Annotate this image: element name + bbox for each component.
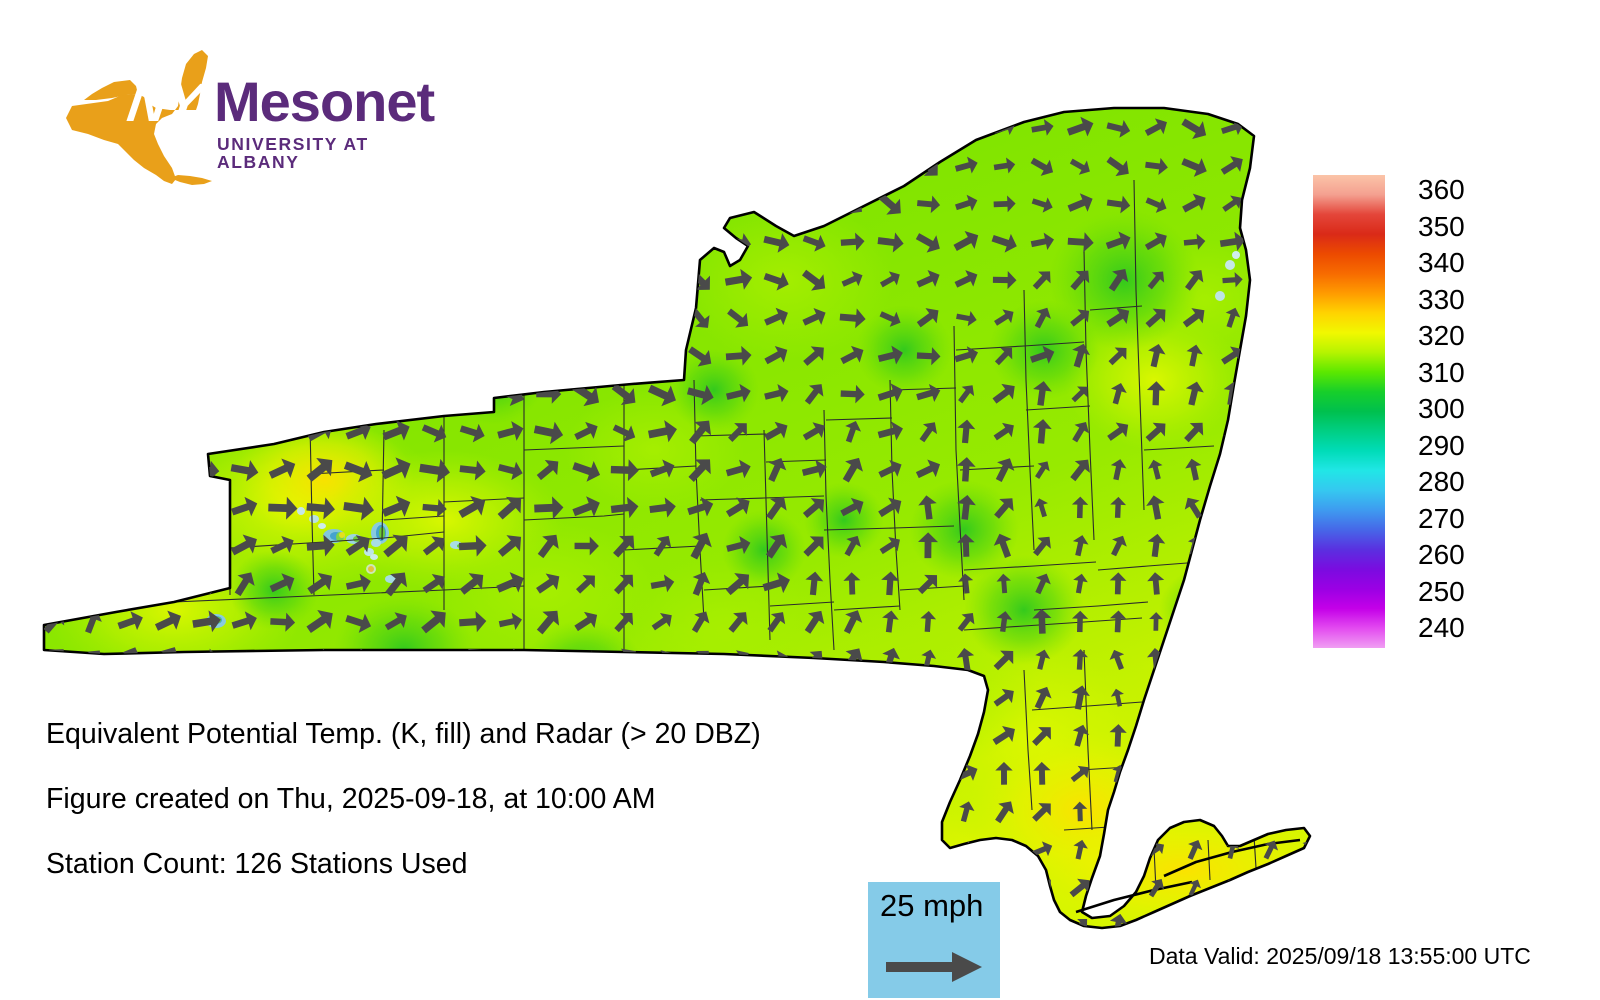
wind-arrow (229, 381, 260, 407)
wind-arrow (113, 302, 149, 333)
wind-arrow (35, 261, 75, 300)
wind-arrow (648, 267, 678, 295)
wind-arrow (878, 684, 903, 711)
wind-arrow (381, 305, 413, 332)
wind-arrow (911, 112, 945, 144)
wind-arrow (189, 378, 223, 410)
wind-arrow (74, 185, 112, 225)
wind-arrow (37, 227, 72, 259)
colorbar-tick-340: 340 (1418, 249, 1465, 277)
wind-arrow (266, 340, 300, 372)
wind-arrow (459, 914, 487, 930)
wind-arrow (1296, 193, 1314, 215)
wind-arrow (346, 915, 372, 930)
wind-arrow (418, 682, 452, 714)
wind-arrow (453, 224, 492, 261)
wind-arrow (1255, 152, 1286, 181)
wind-arrow (152, 490, 184, 524)
wind-arrow (189, 111, 224, 145)
wind-arrow (1257, 193, 1284, 216)
wind-arrow (340, 339, 378, 374)
wind-arrow (269, 687, 296, 709)
wind-arrow (1295, 456, 1314, 482)
wind-arrow (494, 111, 526, 147)
wind-arrow (648, 913, 677, 930)
wind-arrow (229, 264, 260, 298)
wind-arrow (117, 345, 145, 368)
wind-arrow (1296, 306, 1314, 330)
wind-arrow (1259, 119, 1282, 137)
wind-arrow (1183, 722, 1205, 748)
wind-arrow (268, 913, 298, 930)
wind-arrow (1256, 303, 1286, 332)
data-valid-timestamp: Data Valid: 2025/09/18 13:55:00 UTC (1149, 943, 1531, 970)
wind-arrow (1186, 612, 1201, 632)
wind-arrow (152, 681, 186, 714)
wind-arrow (270, 152, 294, 182)
wind-arrow (73, 147, 113, 185)
wind-arrow (497, 345, 525, 367)
wind-arrow (1260, 649, 1281, 671)
wind-arrow (1223, 534, 1241, 557)
wind-arrow (1260, 876, 1280, 899)
colorbar-tick-270: 270 (1418, 505, 1465, 533)
wind-arrow (1300, 611, 1314, 631)
wind-arrow (497, 189, 524, 221)
wind-arrow (114, 493, 147, 523)
wind-arrow (1221, 609, 1243, 633)
wind-arrow (1219, 760, 1246, 786)
wind-arrow (534, 686, 563, 710)
wind-arrow (304, 342, 337, 372)
wind-arrow (572, 686, 601, 711)
wind-arrow (79, 683, 106, 712)
wind-arrow (76, 342, 109, 371)
wind-arrow (112, 413, 150, 450)
wind-scale-label: 25 mph (880, 888, 983, 924)
wind-arrow (342, 682, 375, 714)
wind-arrow (339, 224, 379, 261)
wind-arrow (75, 301, 111, 336)
wind-arrow (191, 304, 223, 331)
wind-arrow (384, 688, 409, 708)
wind-arrow (761, 151, 791, 183)
wind-arrow (111, 148, 151, 185)
wind-arrow (113, 454, 148, 485)
wind-arrow (495, 226, 525, 260)
wind-arrow (1263, 612, 1277, 631)
wind-arrow (801, 152, 827, 181)
wind-arrow (955, 685, 976, 710)
wind-arrow (684, 681, 717, 714)
wind-arrow (227, 225, 262, 260)
wind-scale-legend: 25 mph (868, 882, 1000, 998)
wind-arrow (496, 686, 525, 709)
wind-arrow (37, 527, 73, 563)
wind-arrow (1296, 913, 1314, 930)
wind-arrow (340, 299, 376, 338)
wind-arrow (610, 344, 640, 368)
wind-arrow (78, 381, 108, 406)
wind-arrow (685, 151, 717, 182)
wind-arrow (191, 531, 222, 561)
wind-arrow (189, 226, 224, 258)
figure-canvas: NYS Mesonet UNIVERSITY AT ALBANY (0, 0, 1600, 1000)
wind-arrow (648, 113, 676, 144)
wind-arrow (802, 114, 827, 143)
wind-arrow (1148, 801, 1164, 822)
wind-arrow (343, 188, 374, 222)
wind-arrow (1261, 534, 1279, 557)
wind-arrow (230, 686, 260, 711)
wind-arrow (1256, 455, 1284, 484)
wind-arrow (302, 301, 339, 336)
wind-arrow (155, 914, 181, 930)
wind-arrow (304, 379, 336, 410)
wind-arrow (571, 150, 602, 184)
wind-arrow (573, 306, 601, 329)
wind-arrow (155, 383, 183, 406)
caption-station-count: Station Count: 126 Stations Used (46, 848, 946, 881)
wind-arrow (646, 226, 679, 259)
wind-arrow (1029, 911, 1056, 930)
wind-arrow (79, 113, 105, 145)
wind-arrow (1297, 381, 1314, 405)
wind-arrow (763, 192, 791, 217)
wind-arrow (456, 111, 489, 147)
wind-arrow (269, 113, 294, 145)
wind-arrow (1295, 266, 1314, 293)
wind-arrow (722, 681, 756, 715)
wind-arrow (530, 224, 566, 262)
wind-arrow (152, 530, 185, 561)
wind-arrow (1297, 533, 1314, 558)
wind-arrow (1186, 649, 1202, 670)
wind-arrow (308, 152, 332, 181)
wind-arrow (649, 345, 676, 367)
wind-arrow (268, 305, 298, 330)
wind-arrow (725, 151, 752, 182)
wind-arrow (154, 568, 183, 599)
wind-arrow (111, 223, 150, 262)
colorbar-tick-360: 360 (1418, 176, 1465, 204)
wind-arrow (382, 648, 412, 673)
wind-arrow (112, 262, 149, 300)
wind-arrow (570, 226, 603, 260)
wind-arrow (82, 917, 104, 930)
wind-arrow (75, 489, 111, 525)
wind-arrow (342, 264, 374, 298)
wind-arrow (188, 489, 226, 526)
wind-arrow (1299, 686, 1314, 708)
wind-arrow (78, 420, 108, 444)
wind-arrow (456, 264, 488, 298)
wind-arrow (612, 308, 638, 329)
wind-arrow (381, 381, 412, 407)
wind-arrow (416, 110, 454, 148)
wind-arrow (39, 380, 70, 407)
wind-arrow (120, 917, 140, 930)
wind-arrow (1182, 684, 1206, 711)
wind-arrow (1221, 913, 1243, 930)
wind-arrow (762, 114, 791, 144)
wind-arrow (1147, 762, 1165, 785)
wind-arrow (1223, 800, 1241, 822)
wind-arrow (610, 189, 638, 221)
wind-arrow (877, 155, 903, 178)
wind-arrow (801, 192, 828, 216)
wind-arrow (268, 226, 297, 260)
wind-arrow (610, 113, 638, 145)
wind-arrow (383, 113, 408, 144)
wind-arrow (1263, 688, 1278, 707)
wind-arrow (1259, 232, 1283, 252)
colorbar-tick-300: 300 (1418, 395, 1465, 423)
wind-arrow (379, 340, 414, 373)
wind-arrow (608, 264, 641, 298)
wind-arrow (151, 264, 186, 297)
wind-arrow (535, 189, 562, 220)
wind-arrow (1259, 419, 1282, 444)
wind-arrow (226, 188, 263, 222)
wind-arrow (306, 188, 335, 222)
wind-arrow (1294, 115, 1314, 141)
wind-arrow (1299, 573, 1314, 594)
wind-arrow (417, 149, 453, 185)
wind-arrow (73, 224, 112, 261)
wind-arrow (1261, 915, 1279, 930)
right-arrow-icon (886, 950, 984, 984)
wind-arrow (40, 492, 68, 523)
wind-arrow (1259, 800, 1281, 823)
wind-arrow (150, 111, 186, 147)
wind-arrow (799, 683, 831, 712)
wind-arrow (457, 380, 488, 410)
wind-arrow (915, 684, 941, 712)
wind-arrow (1297, 419, 1314, 444)
colorbar-tick-330: 330 (1418, 286, 1465, 314)
wind-arrow (1147, 914, 1164, 930)
wind-arrow (764, 913, 789, 930)
wind-arrow (761, 681, 791, 714)
wind-arrow (532, 149, 565, 185)
caption-created: Figure created on Thu, 2025-09-18, at 10… (46, 783, 946, 816)
wind-arrow (645, 188, 681, 222)
wind-arrow (571, 343, 602, 370)
wind-arrow (115, 188, 146, 223)
wind-arrow (38, 454, 72, 486)
wind-arrow (155, 189, 181, 220)
wind-arrow (1299, 496, 1314, 519)
wind-arrow (307, 914, 335, 930)
wind-arrow (573, 915, 599, 930)
wind-arrow (1262, 725, 1278, 745)
wind-arrow (1108, 837, 1127, 861)
wind-arrow (37, 150, 73, 183)
wind-arrow (190, 266, 223, 294)
wind-arrow (188, 185, 226, 225)
colorbar-tick-240: 240 (1418, 614, 1465, 642)
wind-arrow (35, 109, 75, 148)
wind-arrow (417, 341, 453, 372)
wind-arrow (114, 566, 146, 601)
wind-arrow (232, 914, 258, 930)
wind-arrow (1295, 154, 1314, 178)
wind-arrow (609, 684, 640, 712)
wind-arrow (307, 686, 335, 710)
wind-arrow (192, 686, 222, 710)
wind-arrow (1183, 915, 1206, 930)
wind-arrow (192, 419, 222, 444)
wind-arrow (1297, 648, 1314, 672)
wind-arrow (800, 911, 828, 930)
wind-arrow (76, 453, 109, 487)
wind-arrow (341, 378, 377, 410)
wind-arrow (722, 113, 754, 145)
wind-arrow (1300, 763, 1314, 784)
wind-arrow (726, 915, 752, 930)
wind-arrow (1298, 801, 1314, 823)
wind-arrow (456, 301, 489, 336)
wind-arrow (38, 414, 70, 449)
wind-arrow (1222, 686, 1241, 708)
wind-arrow (418, 225, 451, 260)
wind-arrow (228, 417, 262, 446)
wind-arrow (534, 913, 563, 930)
colorbar-tick-290: 290 (1418, 432, 1465, 460)
wind-arrow (875, 113, 905, 143)
wind-arrow (192, 913, 221, 930)
wind-arrow (417, 262, 451, 299)
wind-arrow (190, 149, 223, 186)
colorbar-tick-250: 250 (1418, 578, 1465, 606)
wind-arrow (994, 838, 1015, 861)
wind-arrow (378, 185, 416, 224)
colorbar-tick-320: 320 (1418, 322, 1465, 350)
wind-arrow (570, 111, 603, 146)
colorbar (1313, 175, 1385, 648)
wind-arrow (268, 188, 297, 221)
wind-arrow (682, 111, 718, 147)
wind-arrow (569, 263, 605, 298)
wind-arrow (421, 913, 449, 930)
wind-arrow (305, 264, 335, 299)
wind-arrow (79, 530, 106, 561)
wind-arrow (304, 111, 336, 147)
wind-arrow (149, 412, 189, 450)
wind-arrow (377, 224, 416, 260)
wind-arrow (264, 377, 301, 410)
wind-arrow (418, 380, 451, 408)
wind-arrow (1258, 493, 1283, 521)
wind-arrow (1147, 725, 1165, 746)
wind-arrow (609, 151, 640, 182)
wind-arrow (191, 342, 222, 369)
wind-arrow (1256, 264, 1285, 296)
wind-arrow (79, 569, 105, 599)
wind-arrow (1299, 725, 1314, 746)
wind-arrow (953, 117, 980, 140)
wind-arrow (415, 300, 454, 338)
wind-arrow (43, 685, 66, 711)
wind-arrow (304, 225, 337, 260)
wind-arrow (43, 917, 65, 930)
colorbar-tick-350: 350 (1418, 213, 1465, 241)
wind-arrow (608, 226, 642, 259)
wind-arrow (151, 302, 187, 335)
wind-arrow (74, 263, 111, 298)
wind-arrow (1220, 646, 1246, 673)
wind-arrow (227, 301, 262, 335)
wind-arrow (495, 150, 524, 184)
wind-arrow (114, 377, 147, 410)
wind-arrow (457, 343, 488, 368)
wind-arrow (458, 189, 486, 221)
wind-arrow (381, 150, 410, 184)
wind-arrow (225, 148, 265, 185)
colorbar-tick-310: 310 (1418, 359, 1465, 387)
wind-arrow (1296, 344, 1314, 368)
wind-arrow (39, 343, 70, 369)
wind-arrow (536, 345, 562, 366)
wind-arrow (345, 151, 371, 183)
wind-arrow (232, 650, 257, 670)
wind-arrow (647, 304, 678, 332)
wind-arrow (1294, 227, 1314, 255)
wind-arrow (534, 112, 563, 146)
wind-arrow (1221, 723, 1243, 748)
wind-arrow (152, 228, 185, 257)
wind-arrow (839, 153, 866, 181)
wind-arrow (114, 682, 147, 714)
wind-arrow (154, 151, 182, 183)
wind-arrow (493, 263, 529, 298)
wind-arrow (421, 189, 448, 220)
wind-arrow (611, 914, 639, 930)
wind-arrow (230, 344, 259, 368)
wind-arrow (839, 912, 866, 930)
wind-arrow (1261, 763, 1280, 784)
wind-arrow (40, 306, 69, 330)
wind-arrow (1223, 573, 1241, 595)
colorbar-tick-260: 260 (1418, 541, 1465, 569)
wind-arrow (837, 684, 868, 712)
wind-arrow (837, 114, 869, 143)
wind-arrow (497, 307, 525, 330)
wind-arrow (342, 111, 374, 147)
wind-arrow (228, 111, 260, 146)
wind-arrow (149, 337, 189, 376)
wind-arrow (684, 187, 717, 223)
wind-arrow (1260, 381, 1279, 405)
wind-arrow (1223, 496, 1241, 518)
wind-arrow (1262, 574, 1277, 593)
wind-arrow (38, 190, 71, 218)
wind-arrow (570, 187, 602, 223)
wind-arrow (497, 913, 525, 930)
caption-title: Equivalent Potential Temp. (K, fill) and… (46, 718, 946, 751)
wind-arrow (1181, 759, 1209, 787)
wind-arrow (378, 263, 415, 298)
wind-arrow (1220, 457, 1244, 481)
wind-arrow (458, 685, 487, 711)
wind-arrow (532, 265, 565, 296)
colorbar-tick-labels: 360350340330320310300290280270260250240 (1418, 175, 1538, 648)
wind-arrow (1261, 344, 1280, 366)
wind-arrow (111, 109, 151, 147)
wind-arrow (647, 151, 678, 181)
wind-arrow (41, 567, 68, 599)
